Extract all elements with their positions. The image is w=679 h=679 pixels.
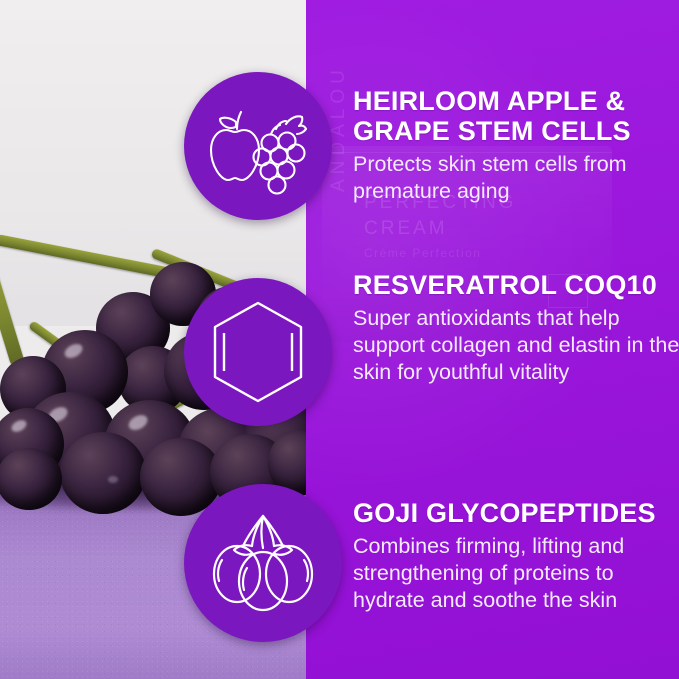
feature-description: Super antioxidants that help support col…	[353, 305, 679, 386]
feature-description: Combines firming, lifting and strengthen…	[353, 533, 679, 614]
watermark-line-cream: CREAM	[364, 216, 516, 242]
feature-text-block-2: RESVERATROL COQ10 Super antioxidants tha…	[353, 270, 679, 386]
product-feature-infographic: ANDALOU PERFECTING CREAM Crème Perfectio…	[0, 0, 679, 679]
feature-title: RESVERATROL COQ10	[353, 270, 679, 300]
watermark-line-creme-perfection: Crème Perfection	[364, 242, 516, 264]
feature-icon-circle-2	[184, 278, 332, 426]
feature-icon-circle-3	[184, 484, 342, 642]
feature-description: Protects skin stem cells from premature …	[353, 151, 679, 205]
grape-berry	[60, 432, 146, 514]
goji-berries-icon	[205, 508, 321, 618]
feature-text-block-3: GOJI GLYCOPEPTIDES Combines firming, lif…	[353, 498, 679, 614]
apple-and-grapes-icon	[200, 96, 316, 196]
hexagon-molecule-icon	[208, 298, 308, 406]
feature-icon-circle-1	[184, 72, 332, 220]
feature-title: GOJI GLYCOPEPTIDES	[353, 498, 679, 528]
feature-text-block-1: HEIRLOOM APPLE & GRAPE STEM CELLS Protec…	[353, 86, 679, 205]
watermark-brand-text: ANDALOU	[328, 65, 350, 192]
feature-title: HEIRLOOM APPLE & GRAPE STEM CELLS	[353, 86, 679, 146]
